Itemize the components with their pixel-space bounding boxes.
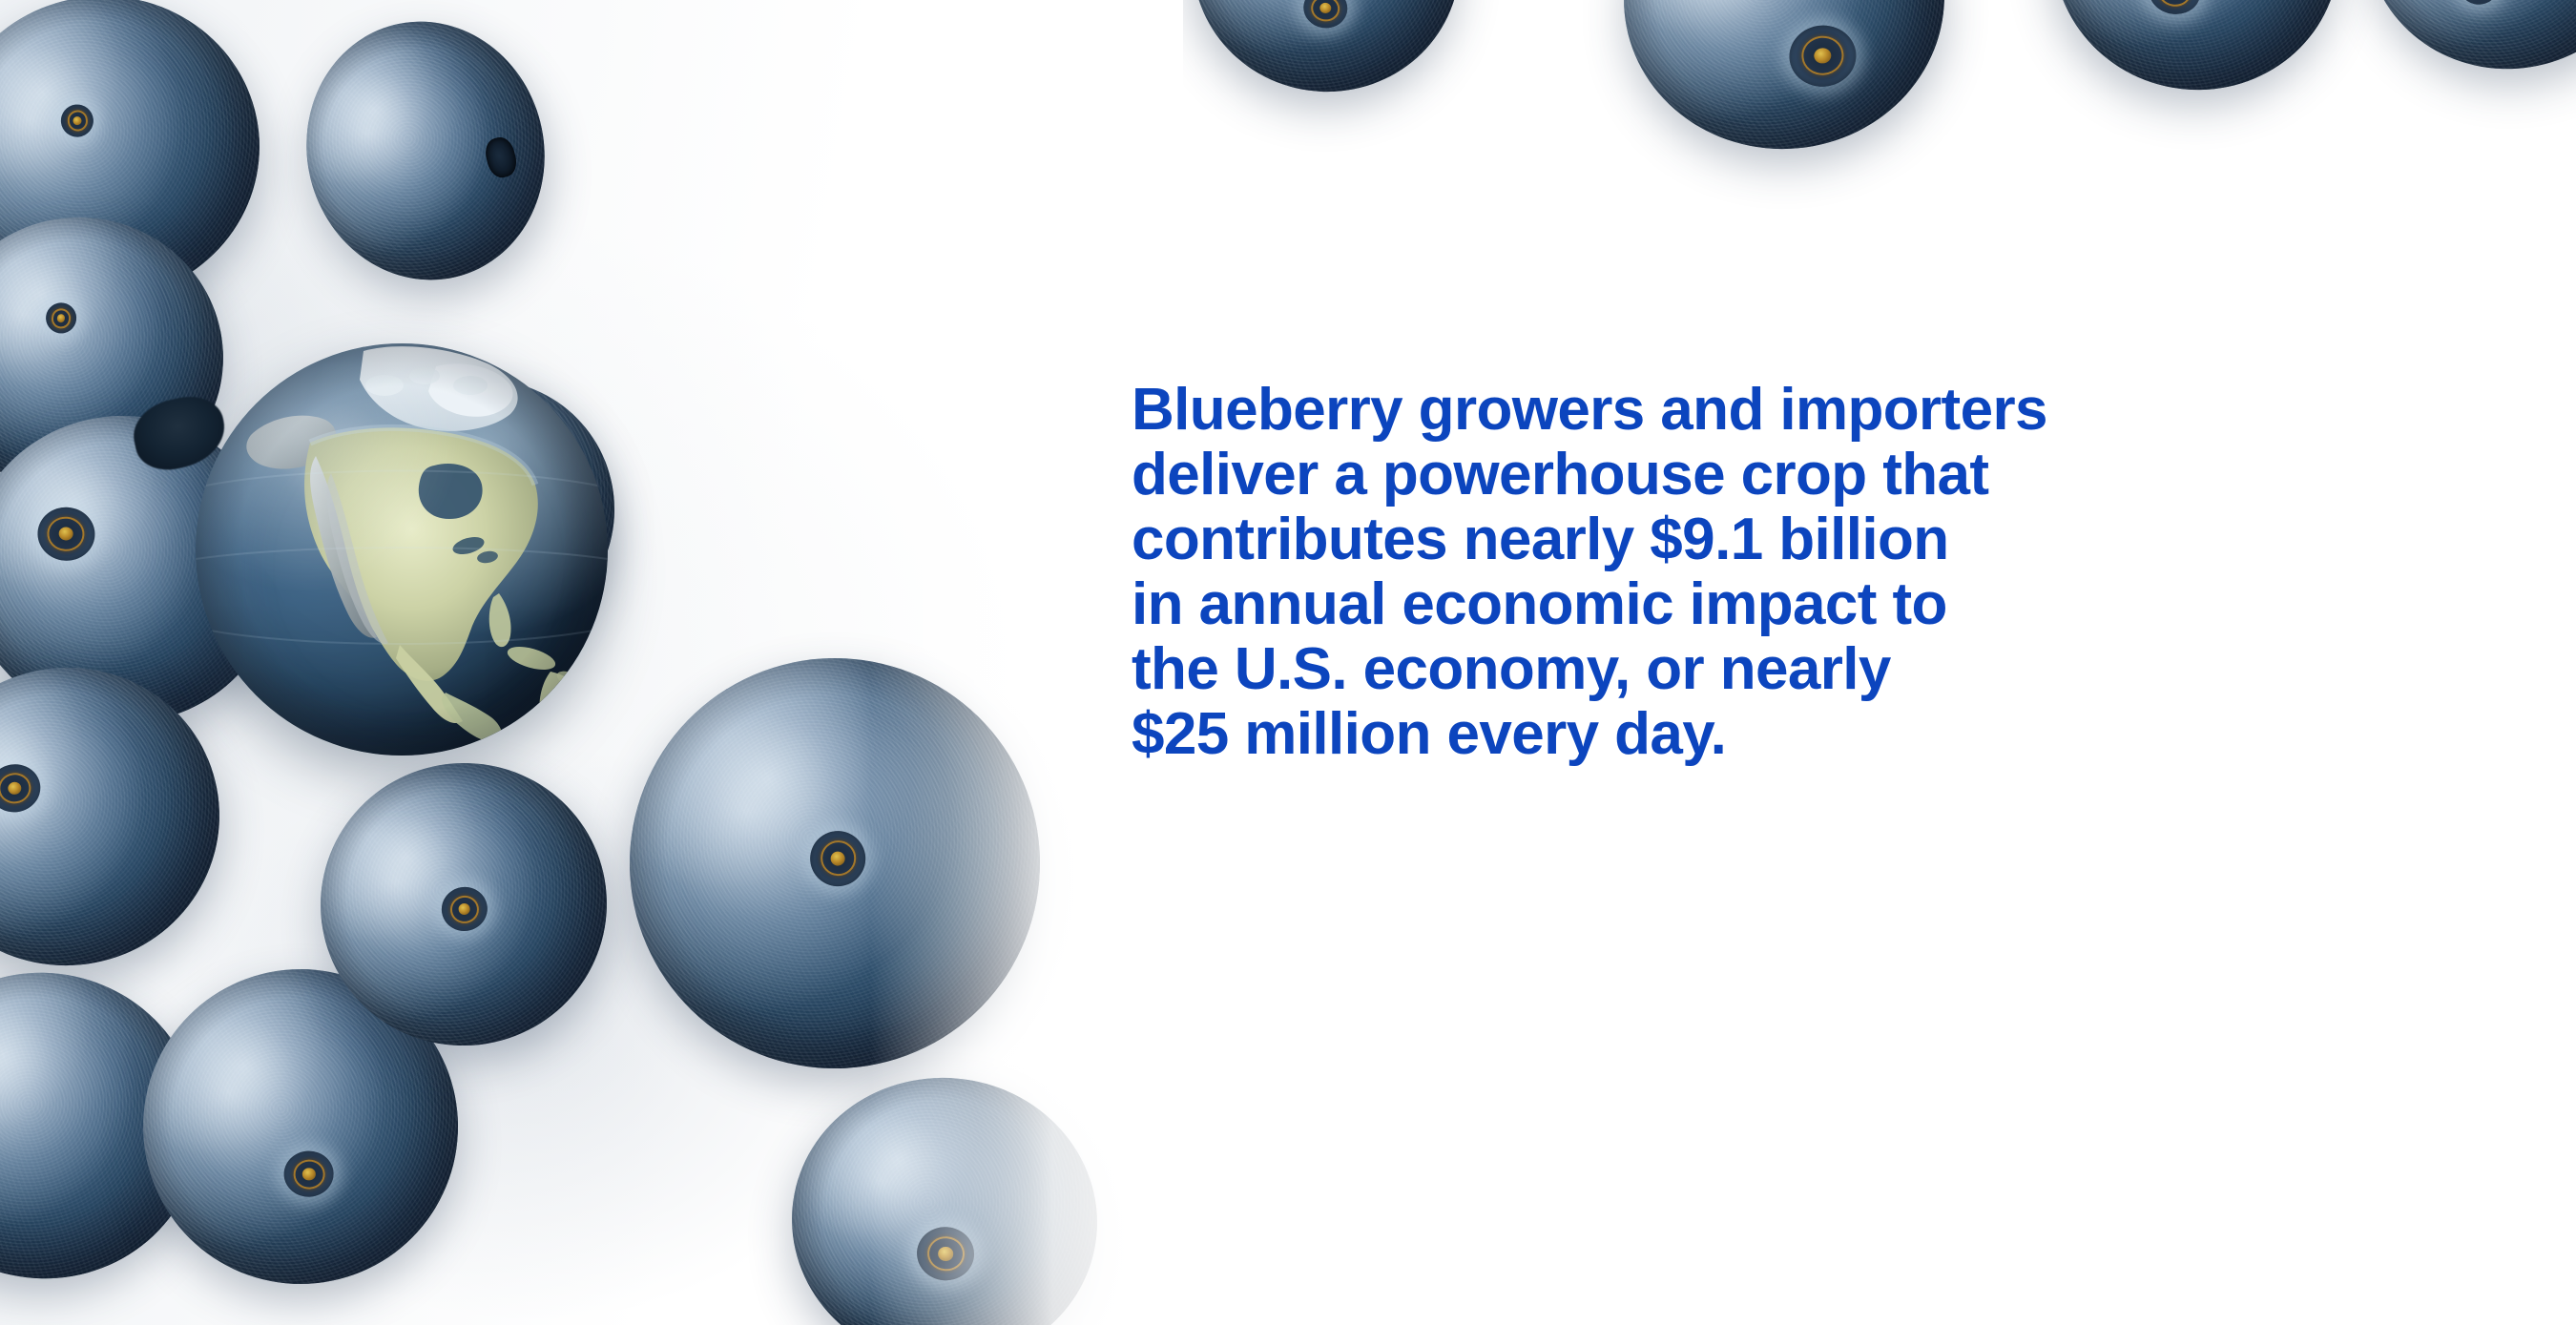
calyx-icon xyxy=(2146,0,2204,18)
blueberry xyxy=(780,1066,1110,1325)
calyx-icon xyxy=(809,830,866,887)
headline-line: $25 million every day. xyxy=(1132,702,2496,767)
blueberry xyxy=(2031,0,2361,113)
calyx-icon xyxy=(482,135,519,181)
headline-block: Blueberry growers and importers deliver … xyxy=(1132,378,2496,767)
calyx-icon xyxy=(44,301,79,337)
blueberry-photo-panel xyxy=(0,0,1183,1325)
calyx-icon xyxy=(1787,22,1859,89)
calyx-icon xyxy=(915,1225,977,1283)
headline-line: deliver a powerhouse crop that xyxy=(1132,443,2496,507)
headline-line: Blueberry growers and importers xyxy=(1132,378,2496,443)
blueberry xyxy=(1175,0,1476,109)
calyx-icon xyxy=(0,760,44,815)
calyx-icon xyxy=(2458,0,2501,8)
blueberry xyxy=(1611,0,1957,162)
headline-line: contributes nearly $9.1 billion xyxy=(1132,507,2496,572)
calyx-icon xyxy=(438,883,490,935)
calyx-icon xyxy=(1301,0,1350,31)
north-america-landmass-icon xyxy=(196,343,608,756)
blueberry xyxy=(623,652,1048,1076)
blueberry xyxy=(2346,0,2576,90)
calyx-icon xyxy=(60,103,95,138)
earth-globe-blueberry xyxy=(196,343,608,756)
blueberry xyxy=(280,0,571,305)
calyx-icon xyxy=(35,506,96,563)
headline-line: the U.S. economy, or nearly xyxy=(1132,637,2496,702)
poster-canvas: Blueberry growers and importers deliver … xyxy=(0,0,2576,1325)
calyx-icon xyxy=(283,1150,335,1199)
headline-line: in annual economic impact to xyxy=(1132,572,2496,637)
